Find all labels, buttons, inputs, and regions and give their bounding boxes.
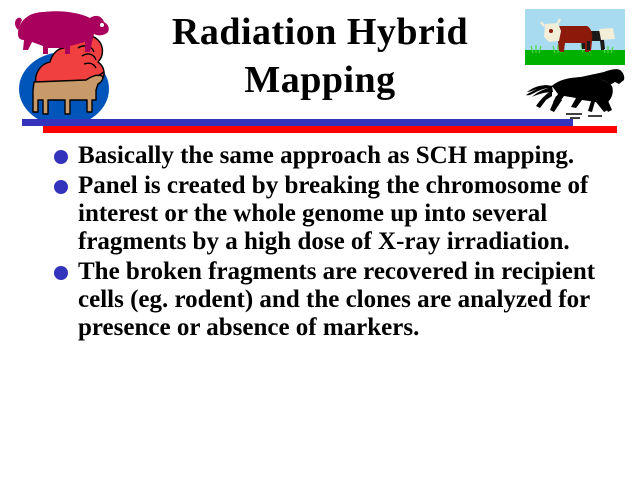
- bullet-text: Basically the same approach as SCH mappi…: [78, 142, 626, 170]
- list-item: Basically the same approach as SCH mappi…: [52, 142, 612, 170]
- title-line-2: Mapping: [120, 56, 520, 104]
- divider-bar-blue: [22, 119, 573, 126]
- bullet-dot-icon: [54, 150, 68, 164]
- list-item: Panel is created by breaking the chromos…: [52, 172, 612, 256]
- bullet-text: Panel is created by breaking the chromos…: [78, 172, 626, 256]
- divider-bar-red: [43, 126, 617, 133]
- bullet-dot-icon: [54, 180, 68, 194]
- hereford-cattle-photo: [525, 9, 625, 65]
- page-title: Radiation Hybrid Mapping: [120, 8, 520, 104]
- title-line-1: Radiation Hybrid: [120, 8, 520, 56]
- slide-canvas: Radiation Hybrid Mapping: [0, 0, 640, 480]
- galloping-horse-silhouette: [522, 66, 628, 120]
- list-item: The broken fragments are recovered in re…: [52, 258, 612, 342]
- bullet-text: The broken fragments are recovered in re…: [78, 258, 626, 342]
- livestock-logo: [12, 4, 117, 126]
- bullet-list: Basically the same approach as SCH mappi…: [52, 142, 612, 344]
- bullet-dot-icon: [54, 266, 68, 280]
- slide-header: Radiation Hybrid Mapping: [0, 0, 640, 135]
